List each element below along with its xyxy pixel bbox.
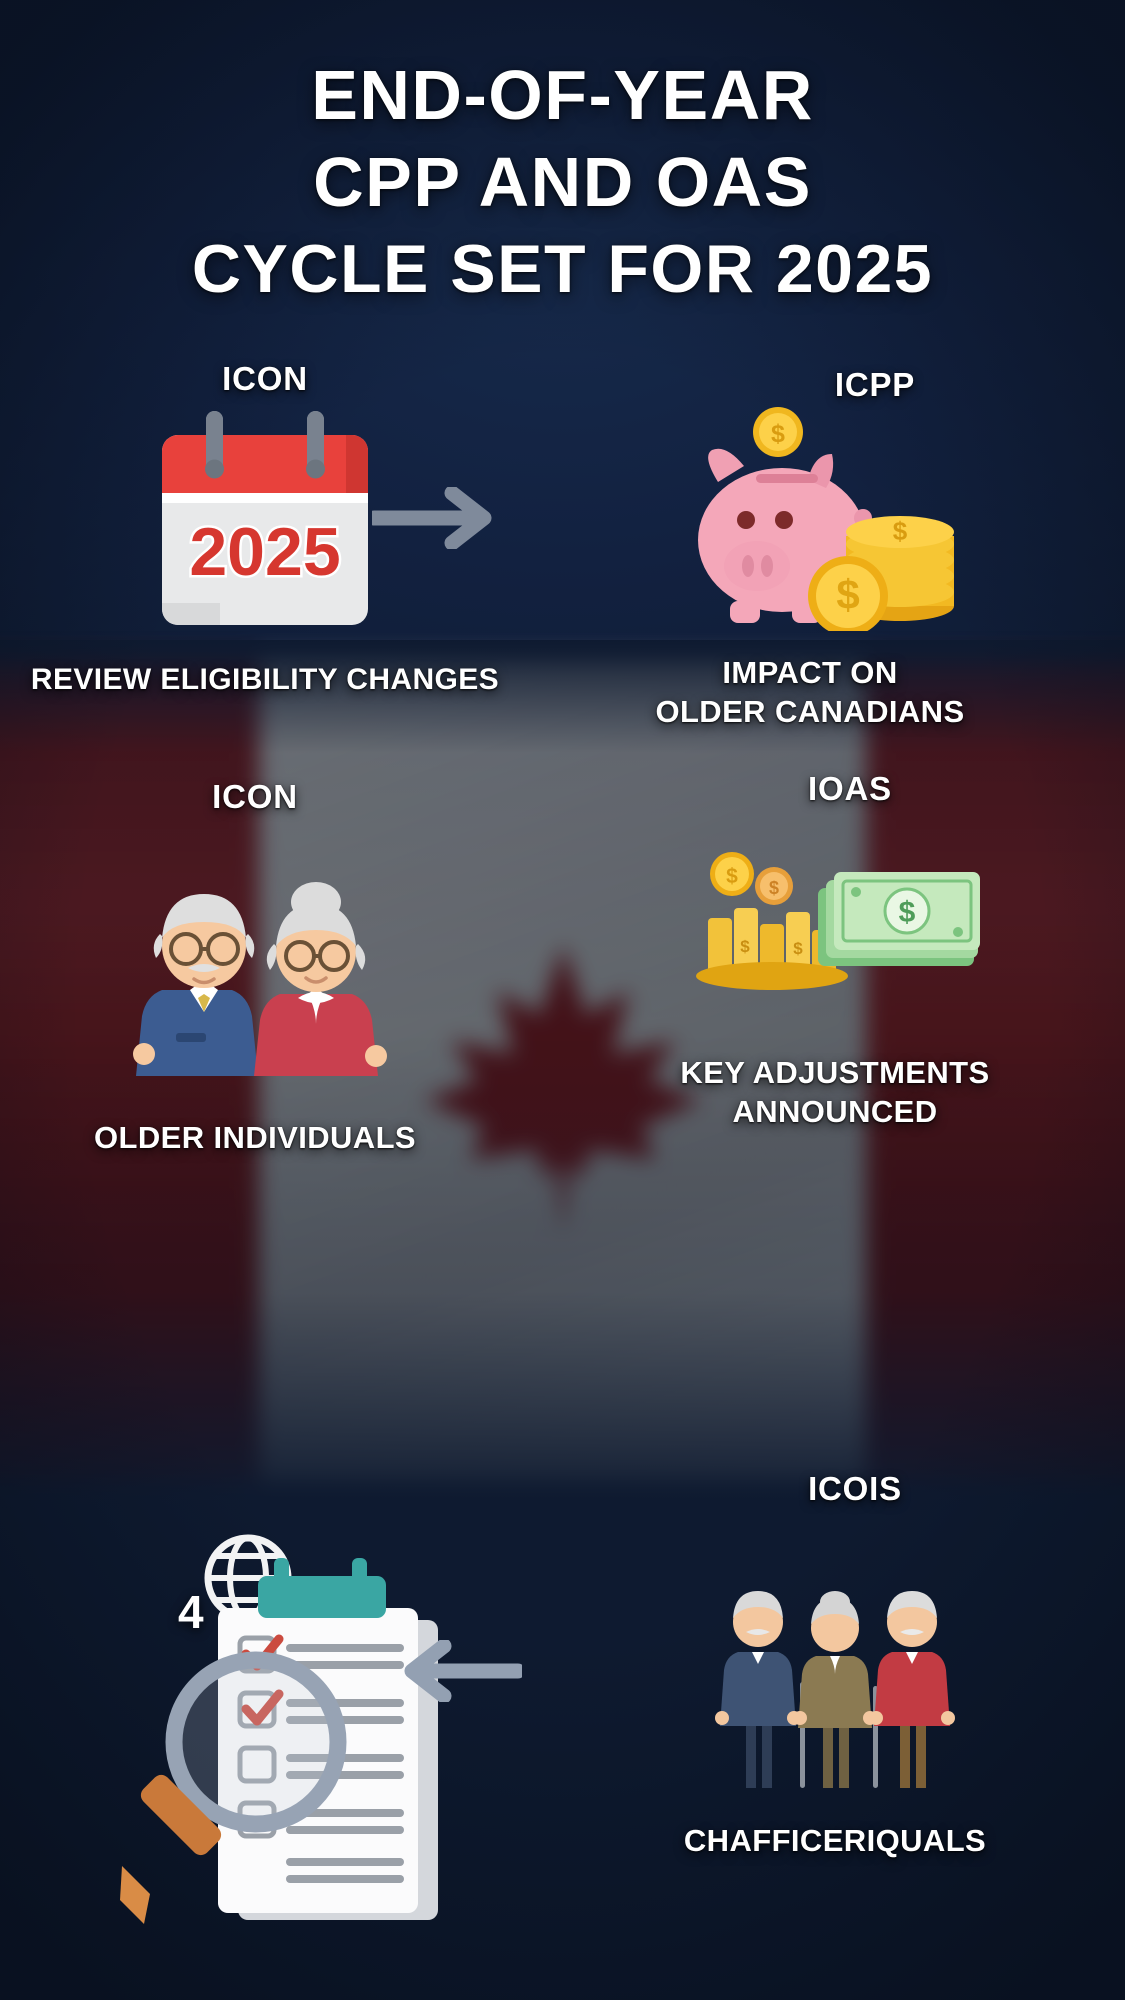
item-cash: IOAS $ $ $ $ — [545, 770, 1125, 1131]
svg-text:$: $ — [769, 878, 779, 898]
elderly-couple-icon — [25, 848, 485, 1078]
item-cash-top-label: IOAS — [545, 770, 1125, 808]
svg-text:$: $ — [726, 865, 738, 888]
item-piggybank: ICPP $ — [500, 366, 1120, 731]
item-seniors-couple-caption: OLDER INDIVIDUALS — [25, 1118, 485, 1157]
title-line-2: CPP AND OAS — [24, 139, 1101, 226]
arrow-left-icon — [400, 1640, 522, 1707]
svg-text:$: $ — [836, 571, 859, 618]
item-seniors-group-top-label: ICOIS — [545, 1470, 1125, 1508]
item-checklist: 4 — [60, 1530, 500, 1970]
cash-banknotes-icon: $ $ $ $ — [545, 844, 1125, 1019]
infographic-poster: END-OF-YEAR CPP AND OAS CYCLE SET FOR 20… — [0, 0, 1125, 2000]
clipboard-magnifier-icon — [70, 1530, 500, 1965]
svg-text:$: $ — [740, 937, 750, 956]
piggy-bank-coins-icon: $ — [500, 406, 1120, 631]
item-seniors-group-caption: CHAFFICERIQUALS — [545, 1821, 1125, 1860]
item-cash-caption-line-1: KEY ADJUSTMENTS — [545, 1053, 1125, 1092]
item-piggybank-caption-line-2: OLDER CANADIANS — [500, 692, 1120, 731]
svg-text:$: $ — [899, 896, 916, 929]
svg-text:$: $ — [893, 516, 908, 546]
item-calendar-top-label: ICON — [10, 360, 520, 398]
item-seniors-group: ICOIS — [545, 1470, 1125, 1860]
item-piggybank-caption: IMPACT ON OLDER CANADIANS — [500, 653, 1120, 731]
poster-title: END-OF-YEAR CPP AND OAS CYCLE SET FOR 20… — [0, 52, 1125, 313]
item-piggybank-caption-line-1: IMPACT ON — [500, 653, 1120, 692]
item-cash-caption: KEY ADJUSTMENTS ANNOUNCED — [545, 1053, 1125, 1131]
item-calendar-caption: REVIEW ELIGIBILITY CHANGES — [10, 660, 520, 699]
item-cash-caption-line-2: ANNOUNCED — [545, 1092, 1125, 1131]
title-line-1: END-OF-YEAR — [24, 52, 1101, 139]
item-seniors-couple: ICON — [25, 778, 485, 1157]
calendar-year-text: 2025 — [189, 514, 340, 590]
elderly-group-icon — [545, 1586, 1125, 1801]
item-seniors-couple-top-label: ICON — [25, 778, 485, 816]
arrow-right-icon — [372, 487, 502, 554]
title-line-3: CYCLE SET FOR 2025 — [24, 226, 1101, 313]
item-piggybank-top-label: ICPP — [500, 366, 1120, 404]
svg-text:$: $ — [771, 420, 785, 448]
svg-text:$: $ — [793, 939, 803, 958]
